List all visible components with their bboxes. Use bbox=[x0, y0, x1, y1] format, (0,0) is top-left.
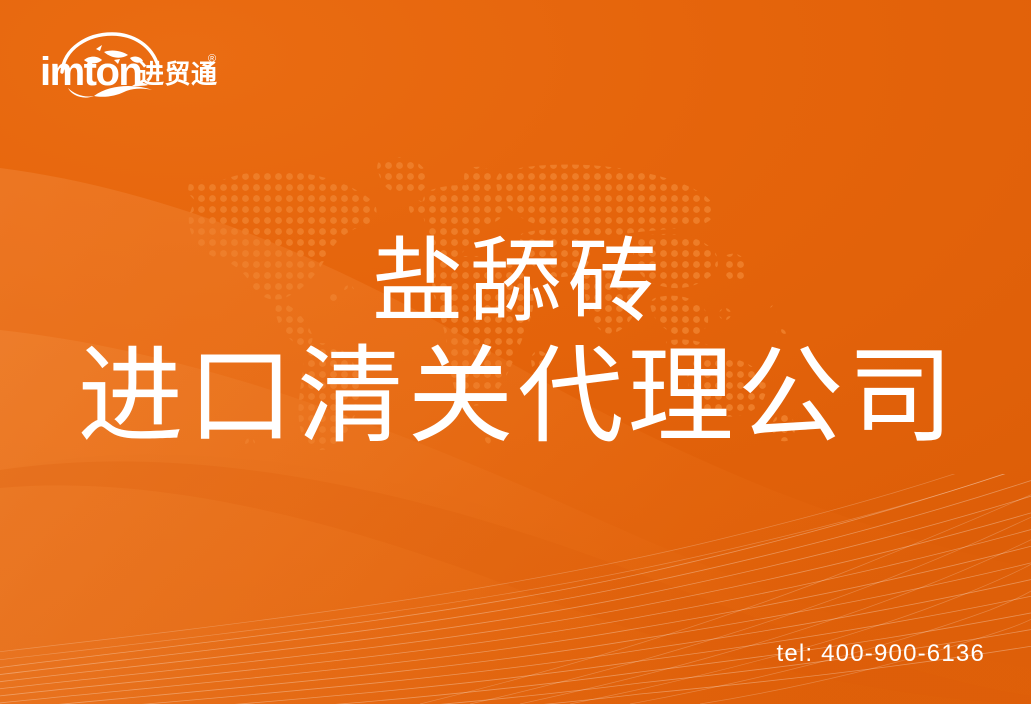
imton-logo[interactable]: imton 进贸通 ® bbox=[40, 28, 220, 100]
headline-block: 盐舔砖 进口清关代理公司 bbox=[0, 236, 1031, 450]
promo-banner: imton 进贸通 ® 盐舔砖 进口清关代理公司 tel: 400-900-61… bbox=[0, 0, 1031, 704]
headline-line-2: 进口清关代理公司 bbox=[0, 344, 1031, 450]
registered-trademark-icon: ® bbox=[208, 53, 216, 65]
logo-chinese-name: 进贸通 bbox=[138, 59, 218, 89]
headline-line-1: 盐舔砖 bbox=[0, 236, 1031, 328]
contact-phone[interactable]: tel: 400-900-6136 bbox=[776, 640, 985, 668]
hairline-curve-pattern bbox=[0, 474, 1031, 704]
